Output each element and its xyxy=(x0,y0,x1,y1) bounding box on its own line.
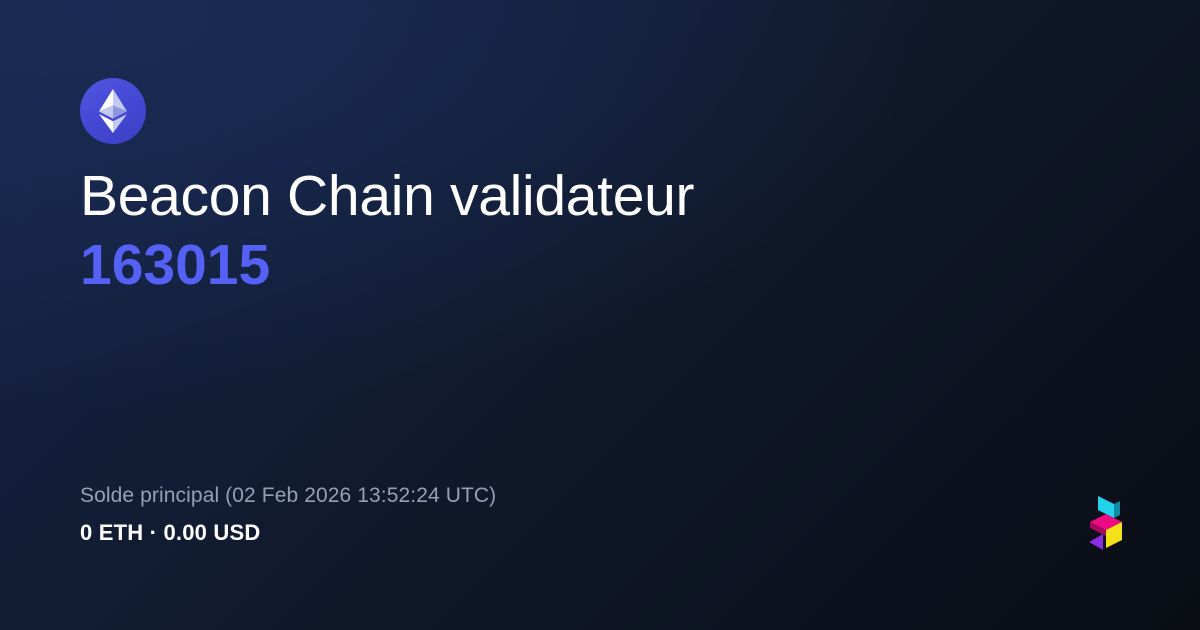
page-title-text: Beacon Chain validateur xyxy=(80,164,694,228)
page-title: Beacon Chain validateur 163015 xyxy=(80,162,1080,300)
balance-value: 0 ETH · 0.00 USD xyxy=(80,520,496,546)
balance-label: Solde principal (02 Feb 2026 13:52:24 UT… xyxy=(80,484,496,508)
beaconchain-logo-icon xyxy=(1084,494,1128,556)
share-card: Beacon Chain validateur 163015 Solde pri… xyxy=(0,0,1200,630)
balance-section: Solde principal (02 Feb 2026 13:52:24 UT… xyxy=(80,484,496,546)
validator-index: 163015 xyxy=(80,231,1080,300)
card-content: Beacon Chain validateur 163015 xyxy=(80,78,1120,300)
ethereum-logo-badge xyxy=(80,78,146,144)
ethereum-icon xyxy=(98,88,128,134)
